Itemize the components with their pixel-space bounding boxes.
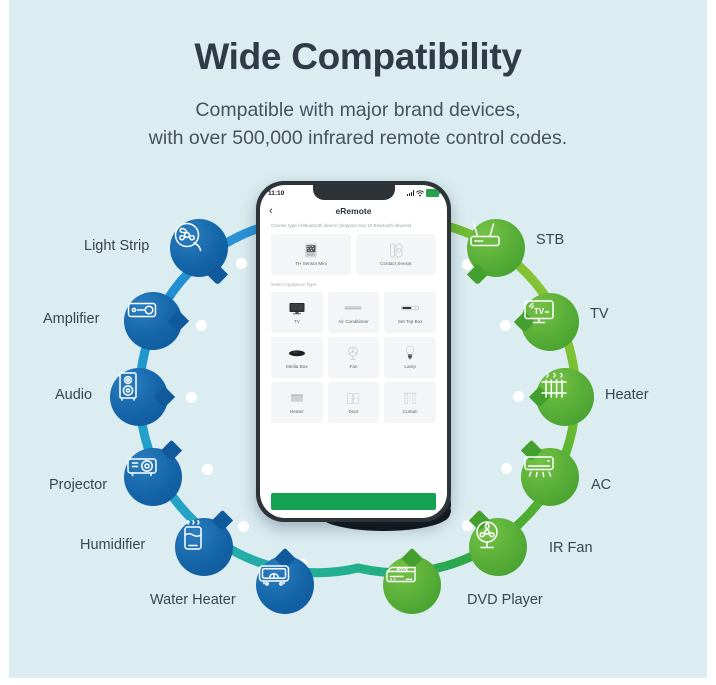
fan-icon bbox=[469, 518, 505, 554]
door-tile-icon bbox=[342, 390, 364, 407]
ac-tile-icon bbox=[342, 300, 364, 317]
tile-label: TV bbox=[292, 319, 302, 325]
phone-screen: 11:10 ‹ eRemote Choose type of Bluetooth… bbox=[260, 185, 447, 518]
label-water-heater: Water Heater bbox=[150, 592, 236, 608]
label-projector: Projector bbox=[49, 477, 107, 493]
tile-label: Heater bbox=[288, 409, 306, 415]
tile-fan[interactable]: Fan bbox=[328, 337, 380, 378]
node-amplifier[interactable] bbox=[124, 292, 182, 350]
projector-icon bbox=[124, 448, 160, 484]
tile-label: TH Sensor Mini bbox=[293, 261, 329, 267]
node-light-strip[interactable] bbox=[170, 219, 228, 277]
ring-dot bbox=[236, 258, 247, 269]
ring-dot bbox=[501, 463, 512, 474]
stb-tile-icon bbox=[399, 300, 421, 317]
status-indicators bbox=[407, 189, 439, 197]
tile-label: Air Conditioner bbox=[336, 319, 370, 325]
node-stb[interactable] bbox=[467, 219, 525, 277]
battery-icon bbox=[426, 189, 439, 197]
wifi-icon bbox=[416, 190, 424, 197]
node-ac[interactable] bbox=[521, 448, 579, 506]
phone-hint-text: Choose type of Bluetooth device (Support… bbox=[260, 221, 447, 234]
contact-sensor-icon bbox=[385, 242, 407, 259]
infographic-root: Wide Compatibility Compatible with major… bbox=[0, 0, 716, 685]
status-time: 11:10 bbox=[268, 190, 284, 197]
svg-text:DVD: DVD bbox=[398, 568, 406, 572]
heater-tile-icon bbox=[286, 390, 308, 407]
tile-lamp[interactable]: Lamp bbox=[384, 337, 436, 378]
appliance-section-label: Select Appliance Type bbox=[260, 275, 447, 288]
node-ir-fan[interactable] bbox=[469, 518, 527, 576]
tile-label: Fan bbox=[348, 364, 360, 370]
phone-app-bar: ‹ eRemote bbox=[260, 201, 447, 221]
node-audio[interactable] bbox=[110, 368, 168, 426]
bluetooth-device-grid: TH Sensor Mini Contact Sensor bbox=[260, 234, 447, 275]
tile-heater[interactable]: Heater bbox=[271, 382, 323, 423]
label-dvd-player: DVD Player bbox=[467, 592, 543, 608]
label-tv: TV bbox=[590, 306, 609, 322]
th-sensor-mini-icon bbox=[300, 242, 322, 259]
tile-th-sensor-mini[interactable]: TH Sensor Mini bbox=[271, 234, 351, 275]
ring-dot bbox=[500, 320, 511, 331]
tile-label: Set Top Box bbox=[396, 319, 425, 325]
label-audio: Audio bbox=[55, 387, 92, 403]
node-humidifier[interactable] bbox=[175, 518, 233, 576]
fan-tile-icon bbox=[342, 345, 364, 362]
tile-label: Door bbox=[347, 409, 361, 415]
tile-air-conditioner[interactable]: Air Conditioner bbox=[328, 292, 380, 333]
signal-icon bbox=[407, 190, 414, 196]
lamp-tile-icon bbox=[399, 345, 421, 362]
water-heater-icon bbox=[256, 556, 292, 592]
audio-speaker-icon bbox=[110, 368, 146, 404]
app-title: eRemote bbox=[260, 206, 447, 216]
node-dvd-player[interactable]: DVD bbox=[383, 556, 441, 614]
label-stb: STB bbox=[536, 232, 564, 248]
label-amplifier: Amplifier bbox=[43, 311, 99, 327]
ring-dot bbox=[202, 464, 213, 475]
phone-primary-button[interactable] bbox=[271, 493, 436, 510]
radiator-heater-icon bbox=[536, 368, 572, 404]
node-heater[interactable] bbox=[536, 368, 594, 426]
appliance-grid-row-1: TV Air Conditioner Set Top Box bbox=[260, 292, 447, 333]
humidifier-icon bbox=[175, 518, 211, 554]
ring-dot bbox=[513, 391, 524, 402]
media-box-tile-icon bbox=[286, 345, 308, 362]
tile-label: Curtain bbox=[401, 409, 420, 415]
label-ir-fan: IR Fan bbox=[549, 540, 593, 556]
set-top-box-icon bbox=[467, 219, 503, 255]
tv-tile-icon bbox=[286, 300, 308, 317]
node-projector[interactable] bbox=[124, 448, 182, 506]
appliance-grid-row-2: Media Box Fan Lamp bbox=[260, 337, 447, 378]
appliance-grid-row-3: Heater Door Curtain bbox=[260, 382, 447, 423]
node-tv[interactable]: TV bbox=[521, 293, 579, 351]
label-humidifier: Humidifier bbox=[80, 537, 145, 553]
tile-door[interactable]: Door bbox=[328, 382, 380, 423]
label-light-strip: Light Strip bbox=[84, 238, 149, 254]
phone-status-bar: 11:10 bbox=[260, 185, 447, 201]
label-heater: Heater bbox=[605, 387, 649, 403]
tile-contact-sensor[interactable]: Contact Sensor bbox=[356, 234, 436, 275]
ring-dot bbox=[196, 320, 207, 331]
air-conditioner-icon bbox=[521, 448, 557, 484]
tile-tv[interactable]: TV bbox=[271, 292, 323, 333]
tile-label: Contact Sensor bbox=[378, 261, 414, 267]
ring-dot bbox=[238, 521, 249, 532]
tv-icon: TV bbox=[521, 293, 557, 329]
svg-text:TV: TV bbox=[534, 307, 545, 316]
amplifier-icon bbox=[124, 292, 160, 328]
light-strip-icon bbox=[170, 219, 206, 255]
dvd-player-icon: DVD bbox=[383, 556, 419, 592]
label-ac: AC bbox=[591, 477, 611, 493]
tile-label: Media Box bbox=[284, 364, 310, 370]
phone-mockup: 11:10 ‹ eRemote Choose type of Bluetooth… bbox=[256, 181, 451, 522]
ring-dot bbox=[186, 392, 197, 403]
node-water-heater[interactable] bbox=[256, 556, 314, 614]
tile-curtain[interactable]: Curtain bbox=[384, 382, 436, 423]
tile-media-box[interactable]: Media Box bbox=[271, 337, 323, 378]
tile-label: Lamp bbox=[402, 364, 418, 370]
tile-set-top-box[interactable]: Set Top Box bbox=[384, 292, 436, 333]
curtain-tile-icon bbox=[399, 390, 421, 407]
